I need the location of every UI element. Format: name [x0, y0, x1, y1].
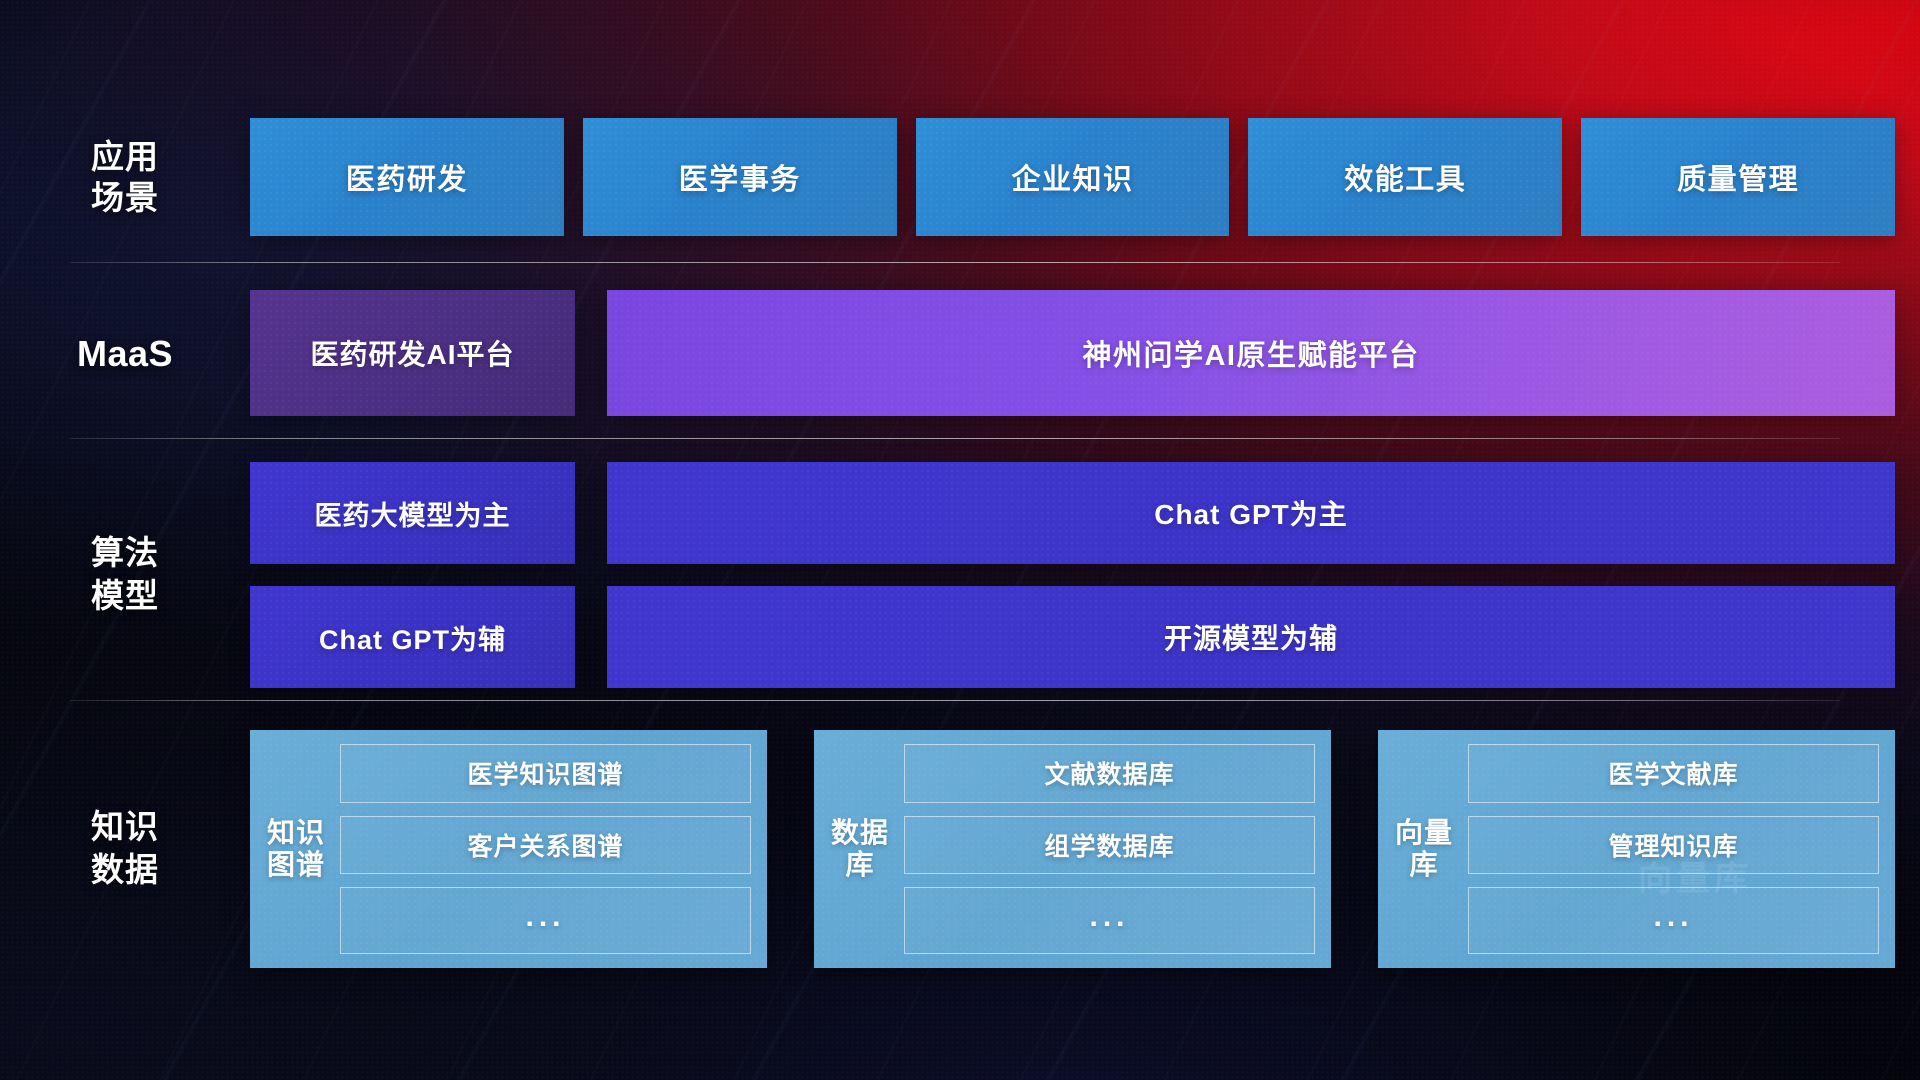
knowledge-panel-category: 向量库: [1392, 744, 1456, 954]
knowledge-item-medical-literature[interactable]: 医学文献库: [1468, 744, 1879, 803]
knowledge-row-label: 知识 数据: [0, 730, 250, 968]
maas-box-list: 医药研发AI平台 神州问学AI原生赋能平台: [250, 290, 1920, 416]
knowledge-panel-category: 数据库: [828, 744, 892, 954]
diagram-content: 应用 场景 医药研发 医学事务 企业知识 效能工具: [0, 0, 1920, 1080]
app-box-enterprise-knowledge[interactable]: 企业知识: [916, 118, 1230, 236]
algorithm-row-label: 算法 模型: [0, 462, 250, 688]
knowledge-item-list: 文献数据库 组学数据库 ...: [904, 744, 1315, 954]
application-row: 应用 场景 医药研发 医学事务 企业知识 效能工具: [0, 118, 1920, 236]
knowledge-item-management-knowledge[interactable]: 管理知识库: [1468, 816, 1879, 875]
maas-private-platform-box[interactable]: 医药研发AI平台: [250, 290, 575, 416]
knowledge-panel-vector-store[interactable]: 向量库 医学文献库 管理知识库 ...: [1378, 730, 1895, 968]
algo-box-label: Chat GPT为辅: [319, 618, 506, 657]
algo-box-label: 医药大模型为主: [315, 494, 511, 533]
algo-box-label: 开源模型为辅: [1164, 617, 1338, 657]
app-box-medicine-rd[interactable]: 医药研发: [250, 118, 564, 236]
knowledge-panel-database[interactable]: 数据库 文献数据库 组学数据库 ...: [814, 730, 1331, 968]
maas-public-platform-label: 神州问学AI原生赋能平台: [1082, 332, 1419, 374]
divider-algorithm-knowledge: [70, 700, 1840, 701]
divider-application-maas: [70, 262, 1840, 263]
knowledge-item-more[interactable]: ...: [340, 887, 751, 954]
app-box-efficiency-tools[interactable]: 效能工具: [1248, 118, 1562, 236]
app-box-medical-affairs[interactable]: 医学事务: [583, 118, 897, 236]
algorithm-line-primary: 医药大模型为主 Chat GPT为主: [250, 462, 1895, 564]
app-box-label: 医学事务: [679, 156, 801, 198]
application-row-label: 应用 场景: [0, 136, 250, 219]
architecture-diagram: 应用 场景 医药研发 医学事务 企业知识 效能工具: [0, 0, 1920, 1080]
app-box-quality-management[interactable]: 质量管理: [1581, 118, 1895, 236]
app-box-label: 医药研发: [346, 156, 468, 198]
knowledge-item-literature-db[interactable]: 文献数据库: [904, 744, 1315, 803]
algo-box-label: Chat GPT为主: [1154, 493, 1348, 533]
knowledge-item-customer-graph[interactable]: 客户关系图谱: [340, 816, 751, 875]
app-box-label: 质量管理: [1677, 156, 1799, 198]
algorithm-row: 算法 模型 医药大模型为主 Chat GPT为主 Chat GPT为辅 开源模型…: [0, 462, 1920, 688]
maas-row: MaaS 医药研发AI平台 神州问学AI原生赋能平台: [0, 290, 1920, 416]
application-box-list: 医药研发 医学事务 企业知识 效能工具 质量管理: [250, 118, 1920, 236]
knowledge-item-more[interactable]: ...: [904, 887, 1315, 954]
maas-private-platform-label: 医药研发AI平台: [310, 333, 514, 373]
algo-box-opensource-secondary[interactable]: 开源模型为辅: [607, 586, 1895, 688]
application-row-body: 医药研发 医学事务 企业知识 效能工具 质量管理: [250, 118, 1920, 236]
knowledge-item-list: 医学文献库 管理知识库 ...: [1468, 744, 1879, 954]
knowledge-item-omics-db[interactable]: 组学数据库: [904, 816, 1315, 875]
knowledge-row: 知识 数据 知识图谱 医学知识图谱 客户关系图谱 ... 数据库 文献数据库 组…: [0, 730, 1920, 968]
maas-row-body: 医药研发AI平台 神州问学AI原生赋能平台: [250, 290, 1920, 416]
algorithm-box-stack: 医药大模型为主 Chat GPT为主 Chat GPT为辅 开源模型为辅: [250, 462, 1920, 688]
knowledge-item-more[interactable]: ...: [1468, 887, 1879, 954]
knowledge-panel-knowledge-graph[interactable]: 知识图谱 医学知识图谱 客户关系图谱 ...: [250, 730, 767, 968]
app-box-label: 效能工具: [1344, 156, 1466, 198]
algo-box-medicine-llm-primary[interactable]: 医药大模型为主: [250, 462, 575, 564]
knowledge-panel-category: 知识图谱: [264, 744, 328, 954]
maas-row-label: MaaS: [0, 331, 250, 376]
app-box-label: 企业知识: [1011, 156, 1133, 198]
knowledge-item-medical-graph[interactable]: 医学知识图谱: [340, 744, 751, 803]
knowledge-item-list: 医学知识图谱 客户关系图谱 ...: [340, 744, 751, 954]
knowledge-panel-list: 知识图谱 医学知识图谱 客户关系图谱 ... 数据库 文献数据库 组学数据库 .…: [250, 730, 1920, 968]
algorithm-line-secondary: Chat GPT为辅 开源模型为辅: [250, 586, 1895, 688]
algo-box-chatgpt-primary[interactable]: Chat GPT为主: [607, 462, 1895, 564]
algo-box-chatgpt-secondary[interactable]: Chat GPT为辅: [250, 586, 575, 688]
divider-maas-algorithm: [70, 438, 1840, 439]
maas-public-platform-box[interactable]: 神州问学AI原生赋能平台: [607, 290, 1895, 416]
